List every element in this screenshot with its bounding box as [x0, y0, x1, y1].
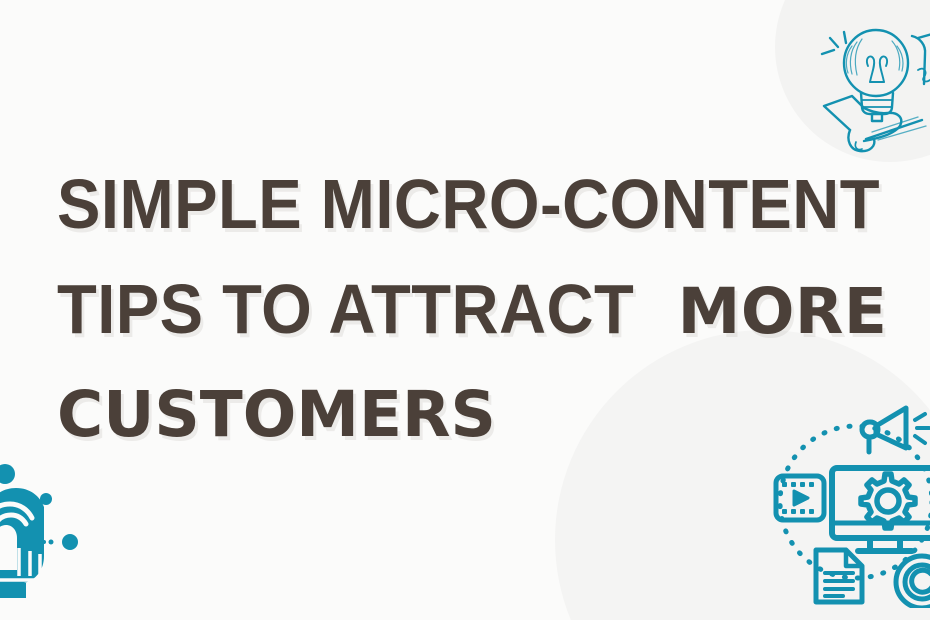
- headline-line-2: TIPS TO ATTRACT MORE: [57, 257, 857, 362]
- touch-hand-icon: [0, 452, 98, 602]
- touch-hand-finger-gaps: [0, 525, 17, 570]
- monitor-gear-icon: [832, 468, 930, 551]
- bulb-glass: [844, 30, 908, 96]
- content-marketing-icon-cluster: [770, 390, 930, 608]
- hand-palm-left: [824, 96, 864, 130]
- touch-hand-svg: [0, 452, 98, 602]
- lightbulb-icon: [794, 8, 930, 158]
- hand-cuff-top: [918, 34, 930, 38]
- hand-thumb-tip: [855, 142, 862, 150]
- radiate-dot-1: [0, 464, 15, 484]
- spark-ray-3: [844, 32, 846, 43]
- spark-ray-1: [822, 50, 834, 54]
- headline-line-3: CUSTOMERS: [57, 362, 857, 467]
- index-finger: [0, 525, 17, 570]
- play-triangle: [794, 491, 808, 505]
- headline-line-1: SIMPLE MICRO-CONTENT: [57, 152, 801, 257]
- hand-base-bar: [0, 583, 26, 598]
- bulb-filament-left: [867, 56, 874, 82]
- target-icon: [896, 556, 930, 608]
- page-title: SIMPLE MICRO-CONTENT TIPS TO ATTRACT MOR…: [57, 152, 857, 467]
- spark-ray-2: [830, 38, 838, 47]
- bulb-filament-right: [880, 56, 887, 82]
- content-marketing-svg: [770, 390, 930, 608]
- gear-icon: [861, 474, 915, 528]
- headline-line-2-narrow: TIPS TO ATTRACT: [57, 257, 634, 362]
- banner-canvas: SIMPLE MICRO-CONTENT TIPS TO ATTRACT MOR…: [0, 0, 930, 620]
- radiate-dot-6: [49, 540, 54, 545]
- headline-line-2-wide: MORE: [678, 259, 888, 364]
- megaphone-icon: [862, 408, 929, 452]
- lightbulb-sketch-svg: [794, 8, 930, 158]
- bulb-shading: [846, 39, 903, 75]
- document-icon: [816, 550, 862, 602]
- video-film-icon: [776, 476, 824, 520]
- radiate-dot-5: [62, 534, 78, 550]
